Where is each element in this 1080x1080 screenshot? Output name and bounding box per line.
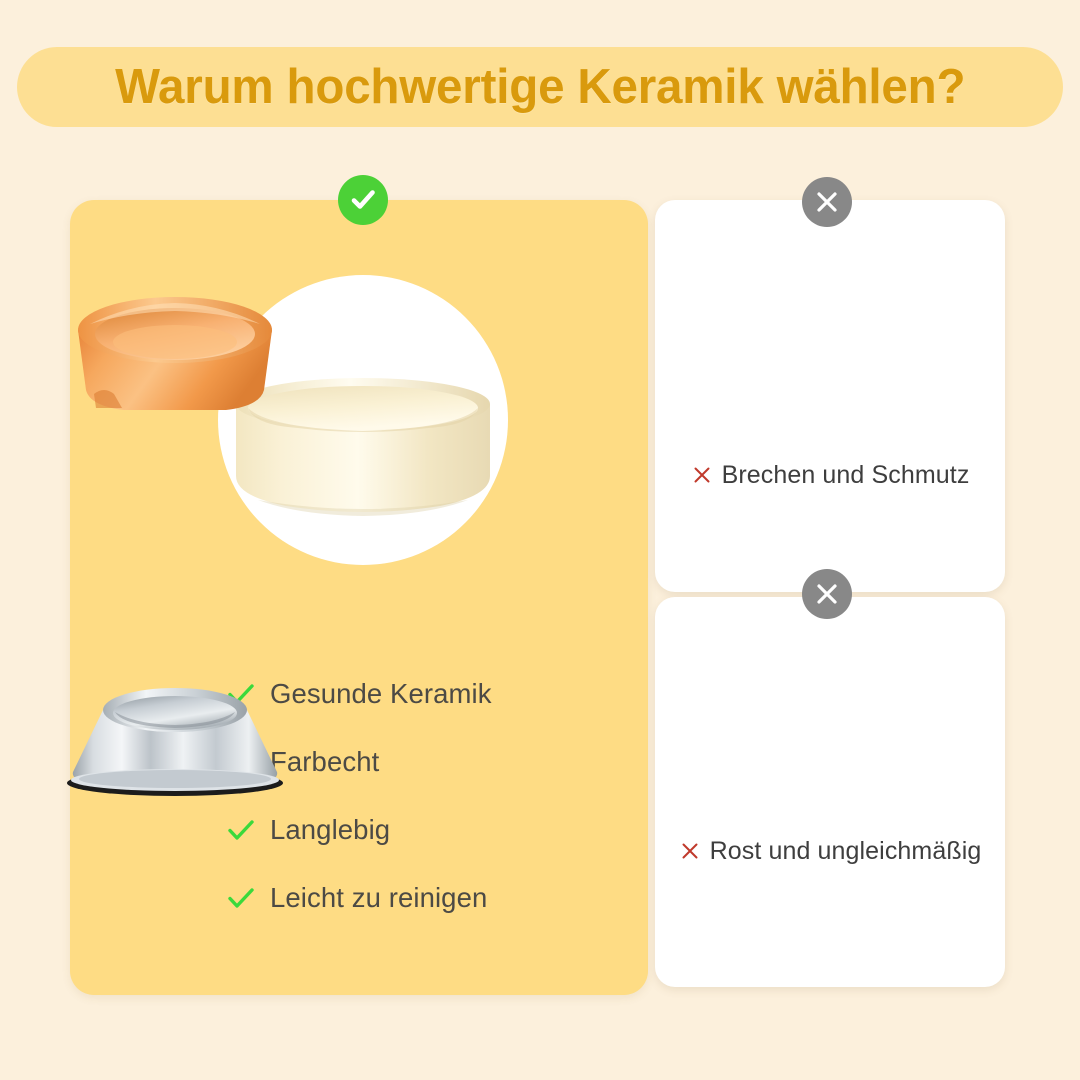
benefit-label: Langlebig [270, 814, 390, 846]
bad-caption-steel: Rost und ungleichmäßig [655, 834, 1005, 868]
x-circle-icon [802, 177, 852, 227]
bad-caption-label: Rost und ungleichmäßig [710, 837, 982, 866]
bad-caption-plastic: Brechen und Schmutz [655, 458, 1005, 492]
x-icon [679, 840, 701, 862]
steel-bowl-image [0, 665, 350, 815]
plastic-bowl-image [0, 275, 350, 435]
page-title: Warum hochwertige Keramik wählen? [115, 59, 965, 115]
bad-product-card-steel [655, 597, 1005, 987]
bad-caption-label: Brechen und Schmutz [722, 461, 970, 490]
infographic-canvas: Warum hochwertige Keramik wählen? [0, 0, 1080, 1080]
benefit-label: Leicht zu reinigen [270, 882, 487, 914]
check-circle-icon [338, 175, 388, 225]
check-icon [226, 883, 256, 913]
bad-product-card-plastic [655, 200, 1005, 592]
check-icon [226, 815, 256, 845]
x-circle-icon [802, 569, 852, 619]
list-item: Leicht zu reinigen [226, 864, 626, 932]
page-title-banner: Warum hochwertige Keramik wählen? [17, 47, 1063, 127]
x-icon [691, 464, 713, 486]
